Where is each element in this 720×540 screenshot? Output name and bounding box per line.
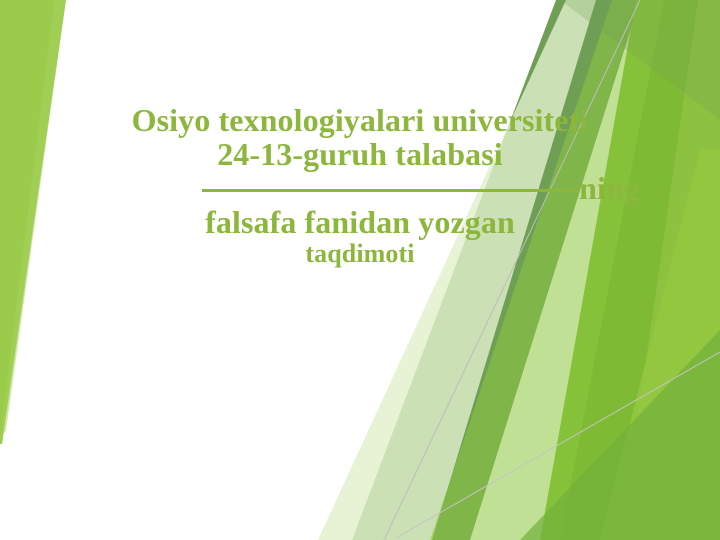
title-line-5: taqdimoti [78,240,642,268]
left-green-wedge-decoration [0,0,720,540]
title-text-block: Osiyo texnologiyalari universiteti 24-13… [78,104,642,267]
title-line-1: Osiyo texnologiyalari universiteti [78,104,642,138]
fill-in-blank-rule [202,189,578,192]
right-green-polygon-decoration [0,0,720,540]
bright-band-shape [540,0,700,540]
mid-green-overlay-shape [430,0,664,540]
thin-diagonal-line-1 [384,0,640,540]
thin-diagonal-line-2 [396,352,720,538]
bottom-right-triangle-shape [520,330,720,540]
title-line-2: 24-13-guruh talabasi [78,138,642,172]
pale-wash-shape [318,0,596,540]
title-line-4: falsafa fanidan yozgan [78,206,642,240]
edge-band-shape [620,0,720,540]
title-line-3-suffix: ning [579,170,640,206]
presentation-title-slide: Osiyo texnologiyalari universiteti 24-13… [0,0,720,540]
title-line-3-blank-and-suffix: ning [78,172,642,206]
sage-band-shape [352,0,640,540]
